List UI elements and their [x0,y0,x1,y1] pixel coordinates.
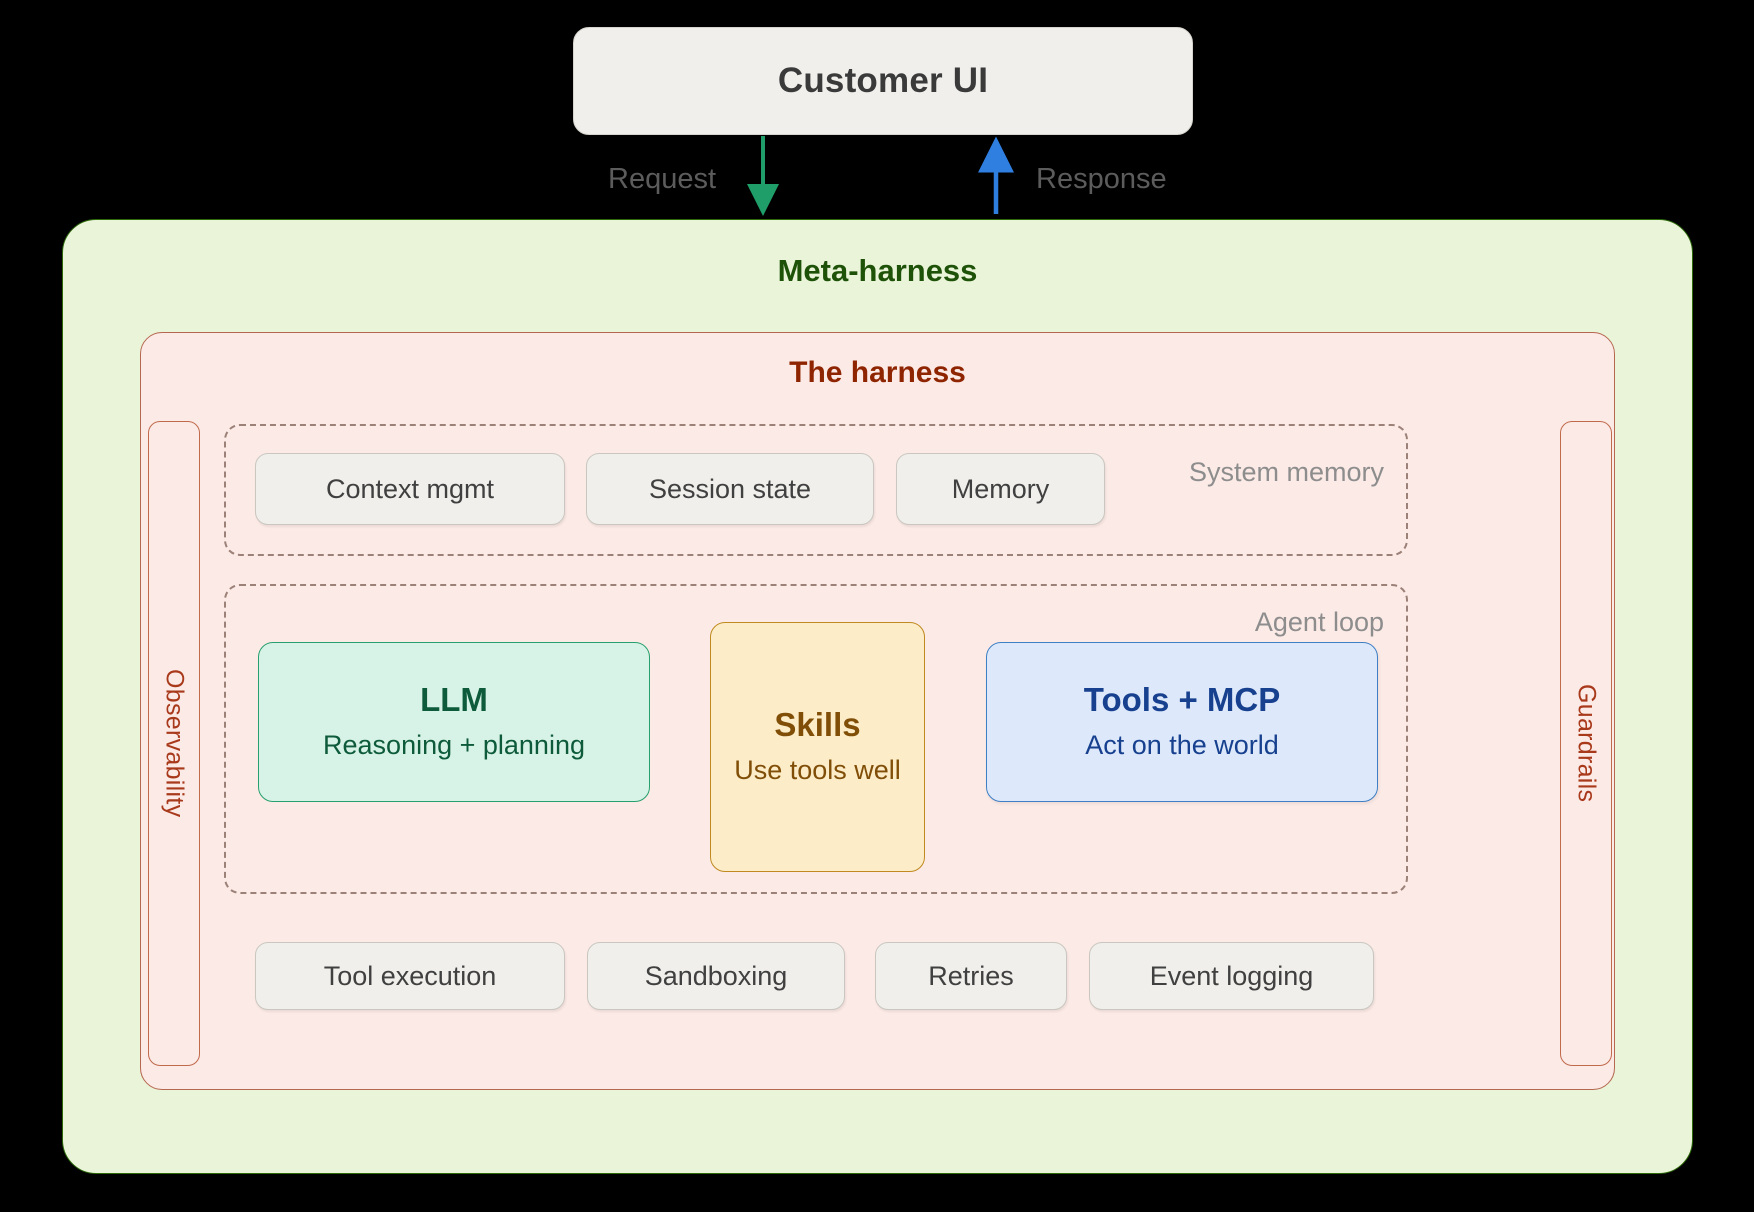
customer-ui-node[interactable]: Customer UI [573,27,1193,135]
chip-tool-execution[interactable]: Tool execution [255,942,565,1010]
system-memory-caption: System memory [1189,457,1384,488]
response-label: Response [1036,163,1167,196]
node-subtitle: Reasoning + planning [323,729,585,763]
node-subtitle: Act on the world [1085,729,1279,763]
chip-label: Event logging [1150,961,1314,992]
chip-label: Retries [928,961,1014,992]
chip-label: Memory [952,474,1050,505]
agent-loop-caption: Agent loop [1255,607,1384,638]
guardrails-rail: Guardrails [1560,421,1612,1066]
node-title: Skills [774,706,860,744]
chip-label: Session state [649,474,811,505]
observability-rail: Observability [148,421,200,1066]
request-label: Request [608,163,716,196]
chip-event-logging[interactable]: Event logging [1089,942,1374,1010]
chip-retries[interactable]: Retries [875,942,1067,1010]
chip-memory[interactable]: Memory [896,453,1105,525]
node-title: Tools + MCP [1084,681,1281,719]
node-subtitle: Use tools well [734,754,901,788]
harness-title: The harness [141,356,1614,390]
chip-label: Tool execution [324,961,497,992]
diagram-canvas: Customer UI [0,0,1754,1212]
meta-harness-title: Meta-harness [63,253,1692,289]
node-tools-mcp[interactable]: Tools + MCP Act on the world [986,642,1378,802]
node-title: LLM [420,681,488,719]
customer-ui-label: Customer UI [778,61,988,101]
observability-label: Observability [160,669,189,817]
node-skills[interactable]: Skills Use tools well [710,622,925,872]
chip-context-mgmt[interactable]: Context mgmt [255,453,565,525]
guardrails-label: Guardrails [1572,684,1601,802]
chip-label: Sandboxing [645,961,788,992]
chip-session-state[interactable]: Session state [586,453,874,525]
chip-label: Context mgmt [326,474,494,505]
node-llm[interactable]: LLM Reasoning + planning [258,642,650,802]
chip-sandboxing[interactable]: Sandboxing [587,942,845,1010]
